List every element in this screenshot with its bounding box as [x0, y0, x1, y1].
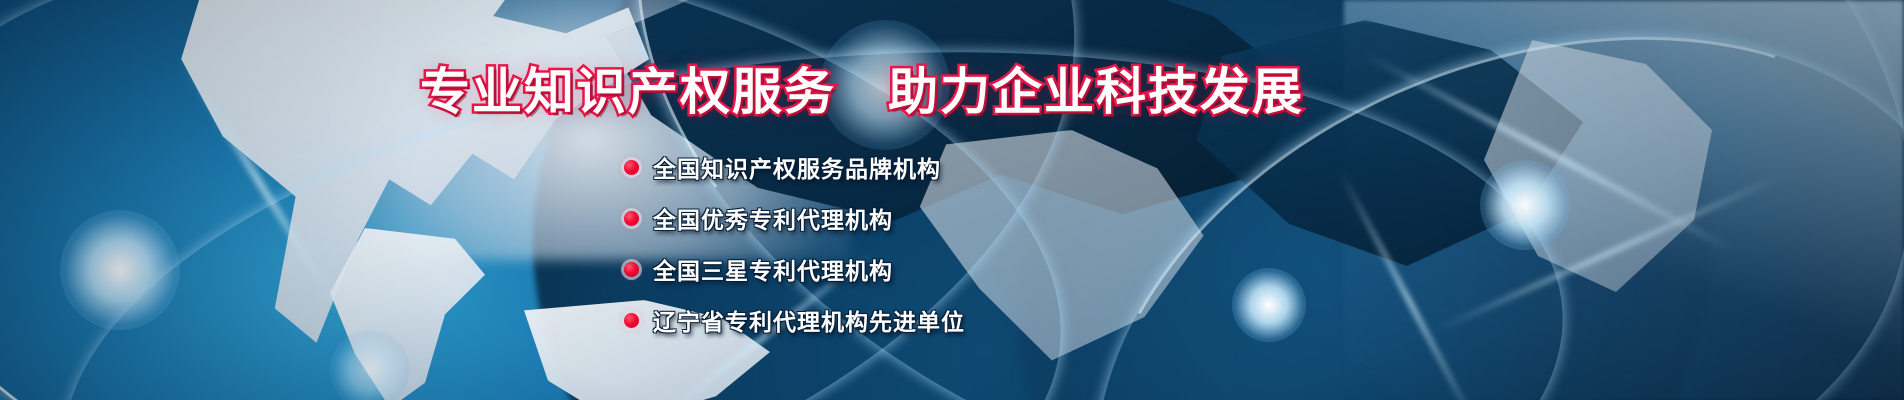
banner-headline: 专业知识产权服务 助力企业科技发展 [420, 52, 1304, 124]
red-dot-icon [624, 211, 639, 226]
list-item: 全国知识产权服务品牌机构 [624, 150, 965, 184]
list-item-label: 辽宁省专利代理机构先进单位 [653, 303, 965, 337]
feature-bullet-list: 全国知识产权服务品牌机构 全国优秀专利代理机构 全国三星专利代理机构 辽宁省专利… [624, 150, 965, 337]
red-dot-icon [624, 262, 639, 277]
list-item: 辽宁省专利代理机构先进单位 [624, 303, 965, 337]
red-dot-icon [624, 313, 639, 328]
list-item-label: 全国三星专利代理机构 [653, 252, 893, 286]
list-item: 全国三星专利代理机构 [624, 252, 965, 286]
list-item-label: 全国知识产权服务品牌机构 [653, 150, 941, 184]
list-item: 全国优秀专利代理机构 [624, 201, 965, 235]
banner-content: 专业知识产权服务 助力企业科技发展 全国知识产权服务品牌机构 全国优秀专利代理机… [0, 0, 1904, 400]
red-dot-icon [624, 160, 639, 175]
list-item-label: 全国优秀专利代理机构 [653, 201, 893, 235]
hero-banner: 专业知识产权服务 助力企业科技发展 全国知识产权服务品牌机构 全国优秀专利代理机… [0, 0, 1904, 400]
